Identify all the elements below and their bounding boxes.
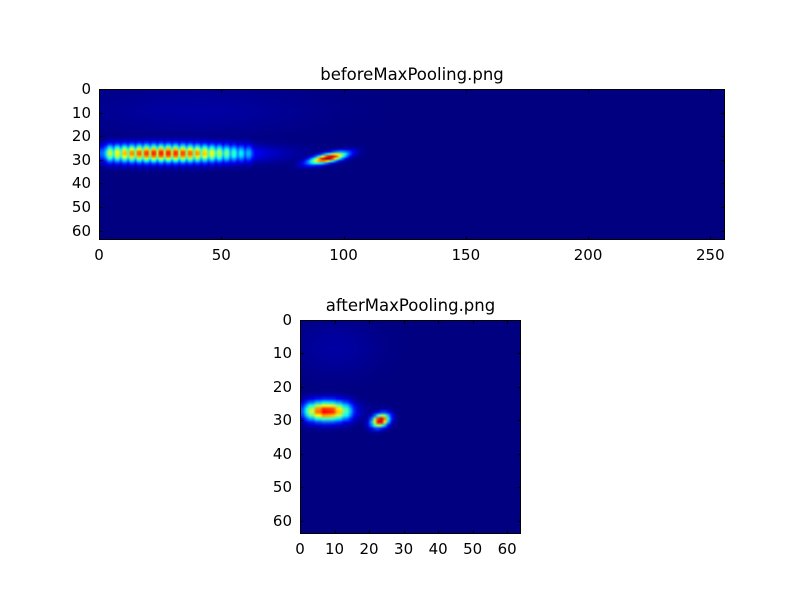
- y-tickmark: [517, 353, 521, 354]
- y-tickmark: [517, 420, 521, 421]
- y-tickmark: [300, 521, 304, 522]
- y-tick-label: 40: [72, 174, 91, 192]
- y-tickmark: [721, 207, 725, 208]
- axes-before-max-pooling: beforeMaxPooling.png 0501001502002500102…: [99, 89, 725, 240]
- y-tickmark: [300, 353, 304, 354]
- y-tickmark: [300, 320, 304, 321]
- y-tickmark: [517, 454, 521, 455]
- x-tickmark: [438, 320, 439, 324]
- x-tick-label: 0: [295, 540, 305, 558]
- x-tickmark: [99, 236, 100, 240]
- y-tick-label: 60: [273, 512, 292, 530]
- x-tickmark: [507, 530, 508, 534]
- y-tick-label: 30: [273, 411, 292, 429]
- x-tick-label: 50: [463, 540, 482, 558]
- y-tickmark: [721, 183, 725, 184]
- y-tickmark: [99, 89, 103, 90]
- x-tick-label: 20: [360, 540, 379, 558]
- y-tickmark: [721, 89, 725, 90]
- x-tickmark: [221, 89, 222, 93]
- x-tickmark: [404, 530, 405, 534]
- y-tickmark: [300, 487, 304, 488]
- axes-after-max-pooling: afterMaxPooling.png 01020304050600102030…: [300, 320, 521, 534]
- y-tickmark: [300, 387, 304, 388]
- x-tick-label: 250: [696, 246, 725, 264]
- y-tick-label: 50: [273, 478, 292, 496]
- heatmap-image-before: [100, 90, 724, 239]
- y-tick-label: 0: [282, 311, 292, 329]
- x-tick-label: 0: [94, 246, 104, 264]
- x-tick-label: 30: [394, 540, 413, 558]
- y-tickmark: [99, 160, 103, 161]
- y-tickmark: [300, 420, 304, 421]
- x-tickmark: [588, 236, 589, 240]
- y-tickmark: [721, 113, 725, 114]
- x-tickmark: [438, 530, 439, 534]
- x-tickmark: [710, 89, 711, 93]
- x-tickmark: [588, 89, 589, 93]
- x-tickmark: [466, 89, 467, 93]
- x-tick-label: 40: [429, 540, 448, 558]
- y-tickmark: [517, 387, 521, 388]
- y-tickmark: [517, 320, 521, 321]
- axes-title-after: afterMaxPooling.png: [300, 296, 521, 315]
- y-tickmark: [99, 113, 103, 114]
- y-tick-label: 10: [72, 104, 91, 122]
- x-tickmark: [507, 320, 508, 324]
- x-tickmark: [466, 236, 467, 240]
- y-tick-label: 30: [72, 151, 91, 169]
- y-tickmark: [99, 136, 103, 137]
- axes-title-before: beforeMaxPooling.png: [99, 65, 725, 84]
- x-tick-label: 50: [212, 246, 231, 264]
- y-tick-label: 20: [273, 378, 292, 396]
- heatmap-image-after: [301, 321, 520, 533]
- plot-area-before: [99, 89, 725, 240]
- y-tick-label: 20: [72, 127, 91, 145]
- x-tick-label: 200: [574, 246, 603, 264]
- y-tick-label: 50: [72, 198, 91, 216]
- y-tickmark: [721, 136, 725, 137]
- x-tickmark: [473, 320, 474, 324]
- x-tickmark: [473, 530, 474, 534]
- y-tick-label: 0: [81, 80, 91, 98]
- y-tick-label: 60: [72, 222, 91, 240]
- x-tickmark: [300, 530, 301, 534]
- y-tickmark: [99, 207, 103, 208]
- x-tickmark: [404, 320, 405, 324]
- y-tickmark: [721, 160, 725, 161]
- x-tick-label: 150: [451, 246, 480, 264]
- x-tickmark: [335, 320, 336, 324]
- y-tickmark: [517, 521, 521, 522]
- x-tickmark: [344, 236, 345, 240]
- y-tickmark: [99, 231, 103, 232]
- x-tickmark: [335, 530, 336, 534]
- x-tick-label: 10: [325, 540, 344, 558]
- x-tickmark: [710, 236, 711, 240]
- y-tickmark: [721, 231, 725, 232]
- x-tickmark: [344, 89, 345, 93]
- plot-area-after: [300, 320, 521, 534]
- x-tickmark: [369, 320, 370, 324]
- x-tick-label: 60: [498, 540, 517, 558]
- x-tickmark: [369, 530, 370, 534]
- y-tick-label: 40: [273, 445, 292, 463]
- y-tickmark: [517, 487, 521, 488]
- x-tick-label: 100: [329, 246, 358, 264]
- y-tickmark: [300, 454, 304, 455]
- y-tick-label: 10: [273, 344, 292, 362]
- matplotlib-figure: beforeMaxPooling.png 0501001502002500102…: [0, 0, 800, 600]
- y-tickmark: [99, 183, 103, 184]
- x-tickmark: [221, 236, 222, 240]
